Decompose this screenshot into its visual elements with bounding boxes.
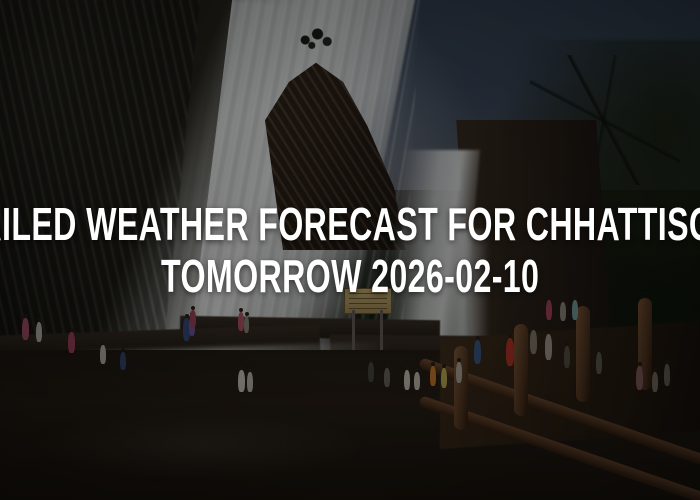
headline-line-1: Detailed Weather Forecast For Chhattisga… xyxy=(0,200,700,248)
headline-line-2: Tomorrow 2026-02-10 xyxy=(161,252,539,300)
weather-forecast-banner: Detailed Weather Forecast For Chhattisga… xyxy=(0,0,700,500)
headline-block: Detailed Weather Forecast For Chhattisga… xyxy=(0,0,700,500)
